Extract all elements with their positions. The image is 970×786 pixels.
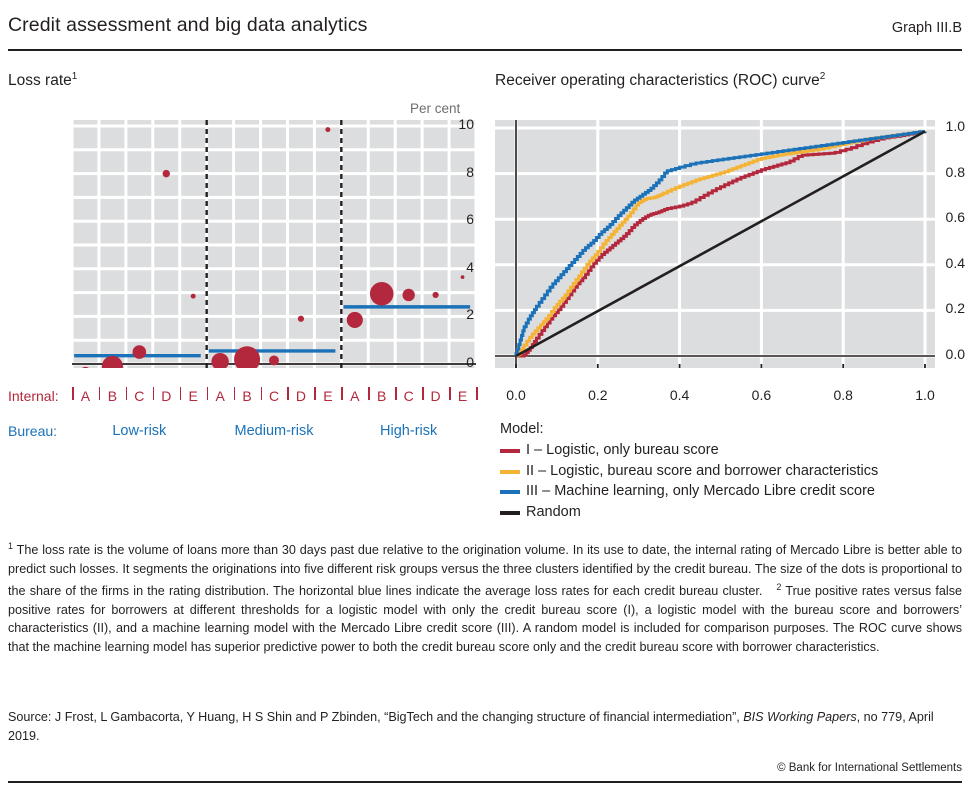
internal-grade-label: C	[264, 388, 284, 404]
internal-grade-tick	[422, 387, 424, 400]
loss-rate-dot	[402, 289, 414, 301]
roc-x-tick-label: 1.0	[903, 387, 947, 403]
left-panel-title-footnote-marker: 1	[72, 71, 78, 82]
internal-grade-tick	[153, 387, 155, 400]
internal-grade-label: A	[345, 388, 365, 404]
roc-curve-svg	[495, 120, 935, 368]
loss-rate-y-tick-label: 2	[440, 306, 474, 322]
legend-color-swatch	[500, 470, 520, 474]
internal-grade-tick	[99, 387, 101, 400]
internal-grade-label: A	[75, 388, 95, 404]
roc-x-tick-label: 0.4	[658, 387, 702, 403]
roc-x-tick-label: 0.2	[576, 387, 620, 403]
loss-rate-dot	[211, 353, 228, 368]
source-publication: BIS Working Papers	[743, 710, 856, 724]
legend-item-label: Random	[526, 504, 581, 520]
loss-rate-dot	[347, 312, 363, 328]
internal-rating-row-label: Internal:	[8, 388, 59, 404]
loss-rate-dot	[298, 316, 304, 322]
internal-grade-tick	[234, 387, 236, 400]
roc-y-tick-label: 0.2	[925, 300, 965, 316]
internal-grade-label: C	[129, 388, 149, 404]
internal-grade-label: B	[237, 388, 257, 404]
right-panel-title: Receiver operating characteristics (ROC)…	[495, 71, 825, 90]
roc-y-tick-label: 0.0	[925, 346, 965, 362]
right-panel-title-footnote-marker: 2	[820, 71, 826, 82]
roc-series-line	[516, 131, 925, 356]
left-panel-units-label: Per cent	[410, 101, 460, 116]
footnote-1-marker: 1	[8, 541, 13, 551]
internal-grade-label: E	[183, 388, 203, 404]
graph-page: Credit assessment and big data analytics…	[0, 0, 970, 786]
loss-rate-dot	[433, 292, 439, 298]
loss-rate-y-tick-label: 6	[440, 211, 474, 227]
roc-y-tick-label: 1.0	[925, 118, 965, 134]
loss-rate-dot	[163, 170, 170, 177]
roc-curve-plot-area	[495, 120, 935, 368]
page-title: Credit assessment and big data analytics	[8, 14, 368, 37]
loss-rate-dot	[325, 127, 330, 132]
right-panel-title-text: Receiver operating characteristics (ROC)…	[495, 72, 820, 89]
internal-grade-tick	[207, 387, 209, 400]
internal-grade-tick	[314, 387, 316, 400]
internal-grade-tick	[126, 387, 128, 400]
internal-grade-tick	[341, 387, 343, 400]
loss-rate-dot	[461, 275, 465, 279]
footer-divider	[8, 781, 962, 783]
left-panel-title: Loss rate1	[8, 71, 77, 90]
internal-grade-tick	[72, 387, 74, 400]
loss-rate-dot	[269, 355, 279, 365]
header-divider	[8, 49, 962, 51]
internal-grade-label: B	[102, 388, 122, 404]
roc-x-tick-label: 0.8	[821, 387, 865, 403]
footnotes-block: 1 The loss rate is the volume of loans m…	[8, 537, 962, 656]
loss-rate-y-tick-label: 10	[440, 116, 474, 132]
bureau-row-label: Bureau:	[8, 423, 57, 439]
left-panel-title-text: Loss rate	[8, 72, 72, 89]
internal-grade-label: E	[453, 388, 473, 404]
internal-grade-tick	[261, 387, 263, 400]
internal-grade-tick	[395, 387, 397, 400]
loss-rate-y-tick-label: 0	[440, 354, 474, 370]
legend-color-swatch	[500, 449, 520, 453]
source-block: Source: J Frost, L Gambacorta, Y Huang, …	[8, 708, 962, 745]
internal-grade-tick	[368, 387, 370, 400]
loss-rate-y-tick-label: 8	[440, 164, 474, 180]
loss-rate-plot-area	[72, 120, 476, 368]
loss-rate-dot	[80, 367, 91, 368]
source-prefix: Source: J Frost, L Gambacorta, Y Huang, …	[8, 710, 743, 724]
roc-y-tick-label: 0.4	[925, 255, 965, 271]
bureau-cluster-label: High-risk	[329, 423, 489, 439]
internal-grade-label: D	[291, 388, 311, 404]
roc-x-tick-label: 0.0	[494, 387, 538, 403]
roc-x-tick-label: 0.6	[739, 387, 783, 403]
legend-item-label: II – Logistic, bureau score and borrower…	[526, 463, 878, 479]
page-header: Credit assessment and big data analytics…	[8, 14, 962, 48]
graph-number: Graph III.B	[892, 20, 962, 36]
internal-grade-tick	[180, 387, 182, 400]
copyright-notice: © Bank for International Settlements	[777, 762, 962, 774]
internal-grade-tick	[287, 387, 289, 400]
internal-grade-tick	[449, 387, 451, 400]
internal-grade-label: E	[318, 388, 338, 404]
loss-rate-dot	[133, 345, 147, 359]
internal-grade-tick	[476, 387, 478, 400]
internal-grade-label: C	[399, 388, 419, 404]
loss-rate-y-tick-label: 4	[440, 259, 474, 275]
legend-title: Model:	[500, 421, 544, 437]
legend-color-swatch	[500, 511, 520, 515]
roc-y-tick-label: 0.6	[925, 209, 965, 225]
footnote-2-marker: 2	[776, 582, 781, 592]
roc-y-tick-label: 0.8	[925, 164, 965, 180]
loss-rate-dot	[370, 282, 394, 306]
internal-grade-label: B	[372, 388, 392, 404]
loss-rate-dot	[102, 356, 123, 368]
legend-item-label: III – Machine learning, only Mercado Lib…	[526, 483, 875, 499]
loss-rate-svg	[72, 120, 476, 368]
internal-grade-label: D	[156, 388, 176, 404]
internal-grade-label: D	[426, 388, 446, 404]
internal-grade-label: A	[210, 388, 230, 404]
loss-rate-dot	[191, 294, 196, 299]
legend-item-label: I – Logistic, only bureau score	[526, 442, 719, 458]
legend-color-swatch	[500, 490, 520, 494]
